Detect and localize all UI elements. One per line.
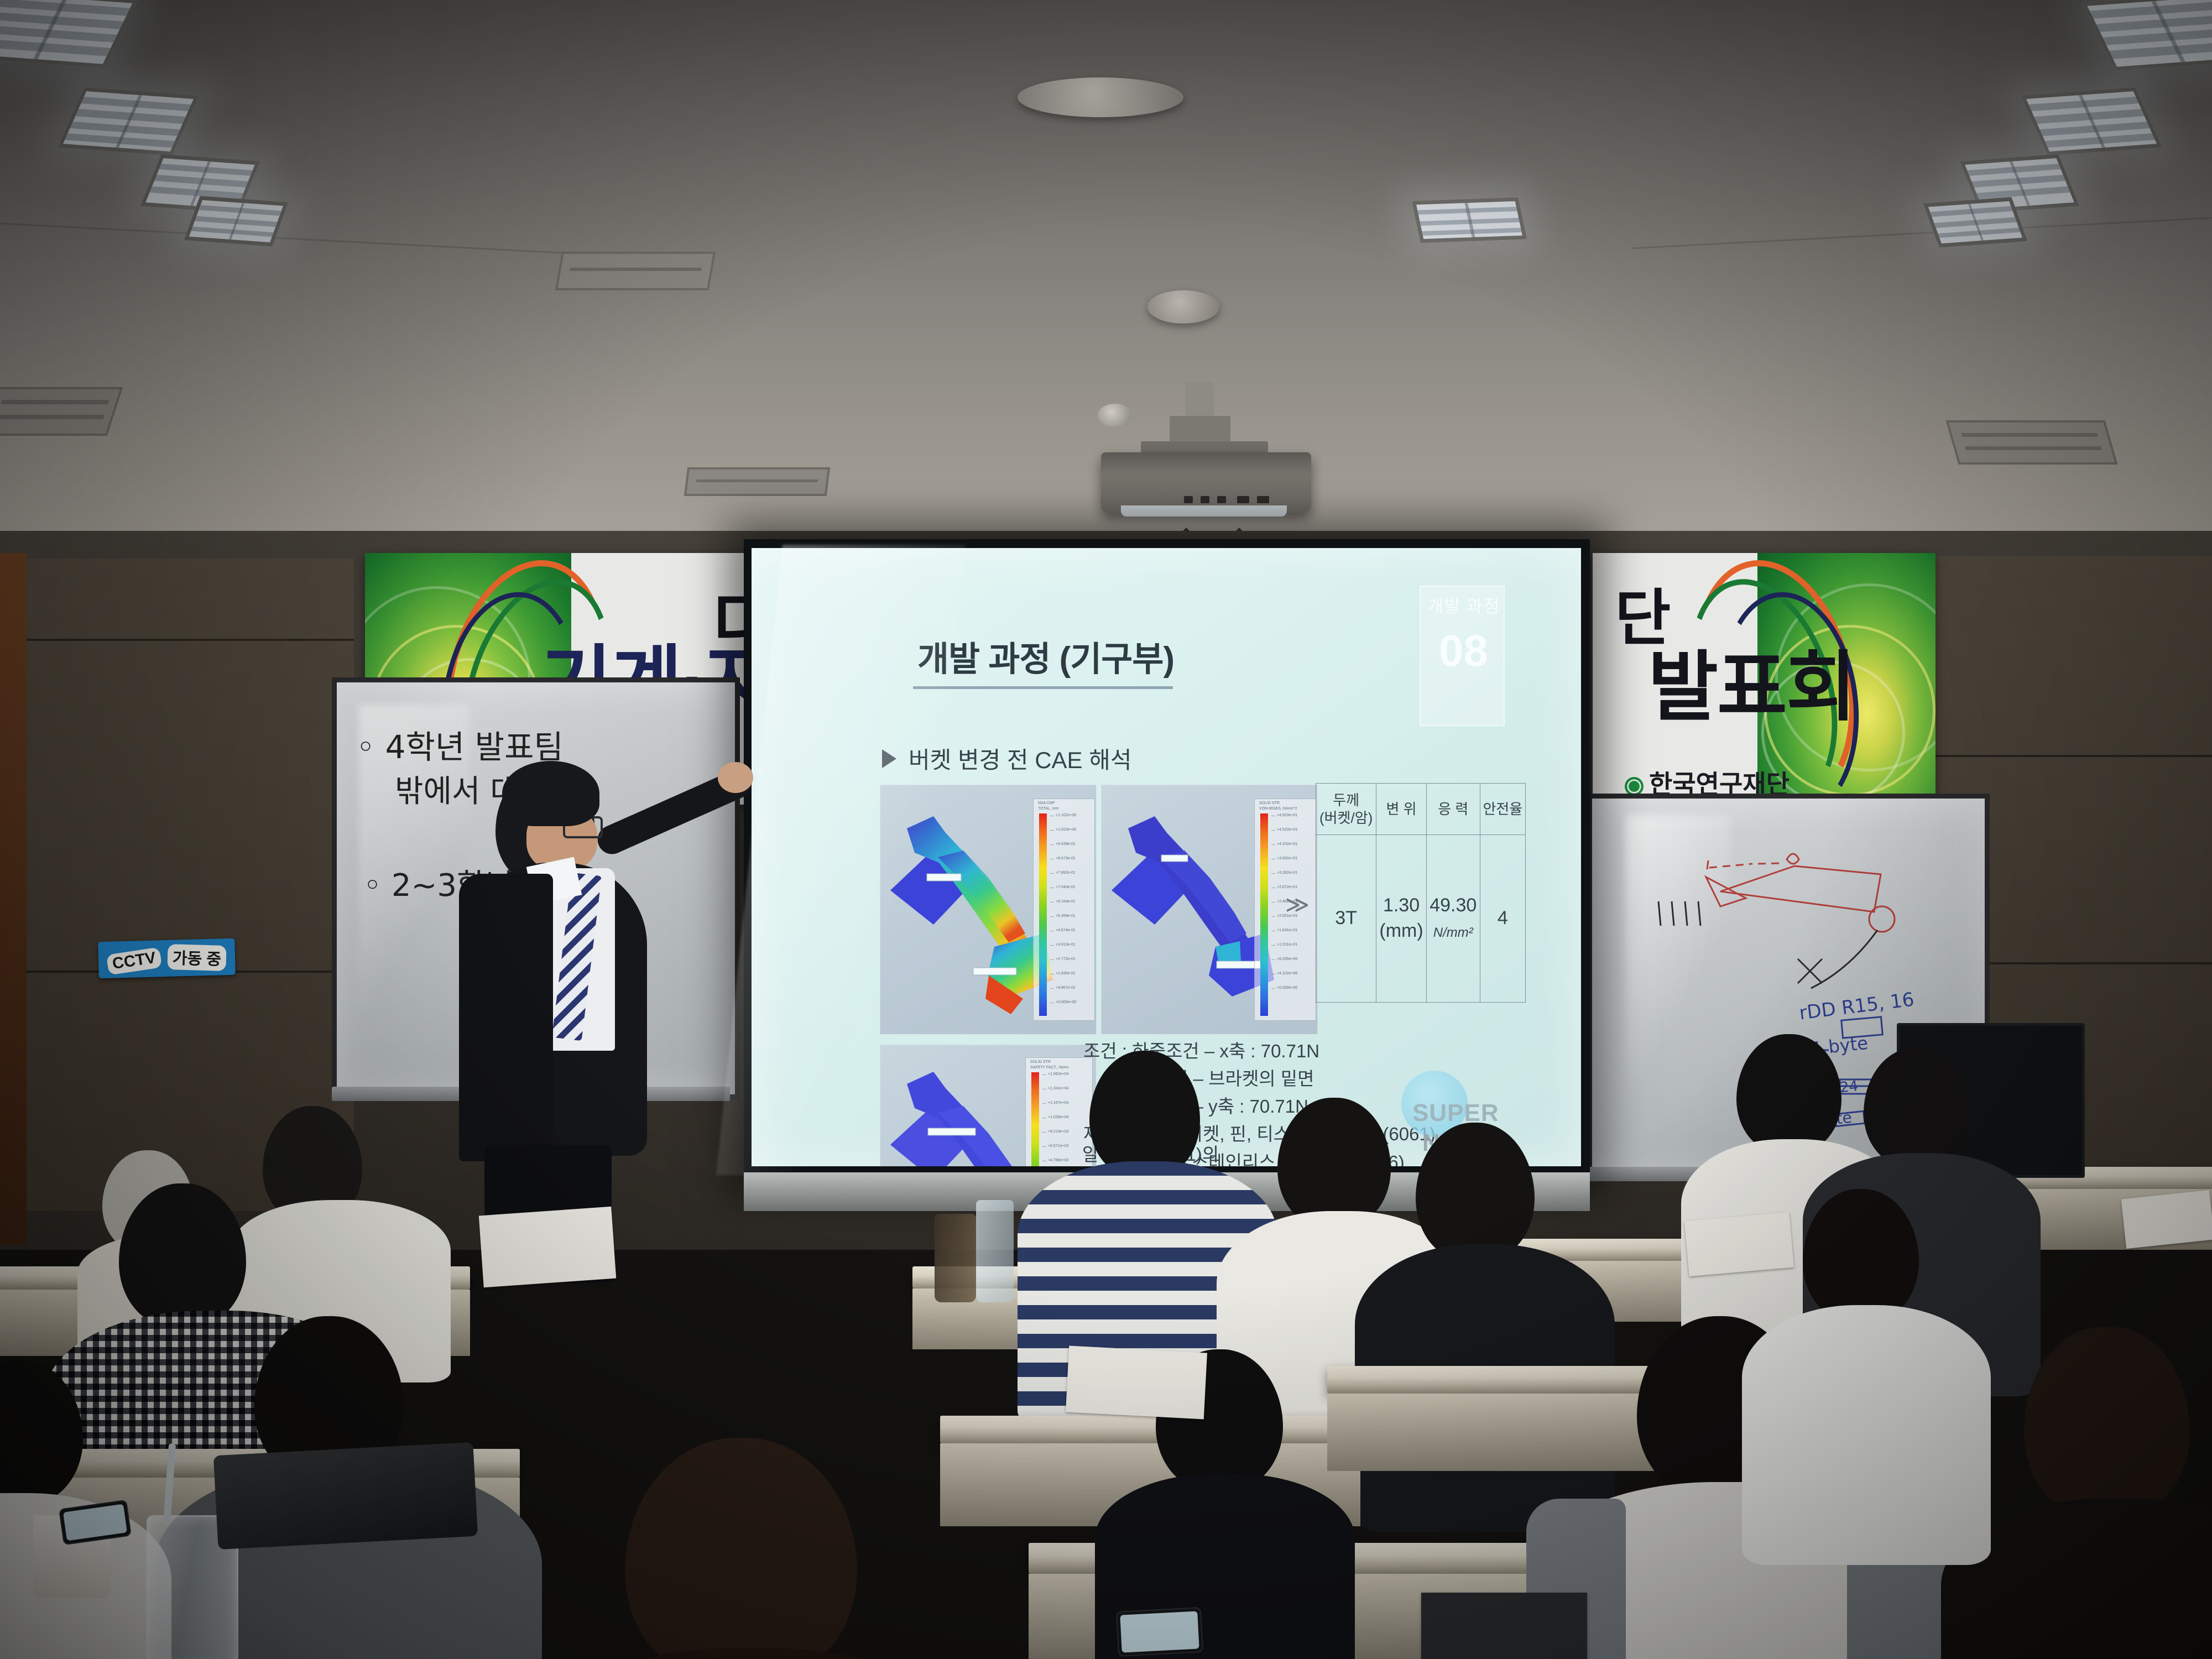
table-header-safety: 안전율 — [1480, 784, 1525, 835]
table-header-thickness: 두께 (버켓/암) — [1316, 784, 1376, 835]
ceiling-speaker — [1147, 290, 1219, 324]
water-bottle — [976, 1200, 1014, 1302]
door-frame — [0, 553, 27, 1244]
ceiling-speaker — [1018, 77, 1183, 117]
cell-stress-value: 49.30 — [1430, 895, 1477, 916]
banner-left-edge-char: 다 — [713, 570, 747, 666]
handout-papers — [479, 1207, 616, 1287]
cctv-sign-line1: CCTV — [106, 947, 162, 975]
banner-right: 단 발표회 한국연구재단 — [1593, 553, 1936, 805]
ceiling-light — [1923, 197, 2028, 247]
cae-legend-title-1: SOLID STR — [1259, 801, 1280, 805]
cctv-sign-line2: 가동 중 — [167, 944, 226, 971]
result-table: 두께 (버켓/암) 변 위 응 력 안전율 3T 1.30 (mm) 49.30 — [1316, 783, 1526, 1003]
table-header-row: 두께 (버켓/암) 변 위 응 력 안전율 — [1316, 784, 1526, 835]
ceiling-vent — [1946, 420, 2118, 465]
whiteboard-left-line1: ◦ 4학년 발표팀 — [356, 721, 564, 768]
cell-stress-unit: N/mm² — [1433, 925, 1473, 940]
ceiling-vent — [684, 467, 830, 496]
handout-papers — [1066, 1346, 1207, 1420]
slide-bullet: 버켓 변경 전 CAE 해석 — [882, 742, 1132, 775]
handout-papers — [1684, 1212, 1794, 1276]
slide-title: 개발 과정 (기구부) — [917, 631, 1174, 681]
smartphone-on-desk — [1116, 1607, 1203, 1657]
table-header-thickness-line2: (버켓/암) — [1319, 810, 1373, 826]
cae-legend-title-2: SAFETY FACT., Norm — [1030, 1066, 1068, 1070]
arrow-marker-icon: ≫ — [1285, 891, 1304, 918]
cae-image-safety-factor: SOLID STR SAFETY FACT., Norm +1.562e+04 … — [880, 1045, 1097, 1166]
drink-bottle — [935, 1214, 976, 1302]
ceiling-vent — [555, 252, 716, 290]
supernova-logo-line1: SUPER — [1412, 1099, 1499, 1127]
table-header-thickness-line1: 두께 — [1333, 792, 1359, 808]
cell-displacement: 1.30 (mm) — [1376, 835, 1427, 1003]
slide-section-label: 개발 과정 — [1427, 592, 1500, 618]
cell-displacement-value: 1.30 — [1383, 895, 1420, 916]
slide-title-underline — [913, 686, 1173, 689]
cctv-sign: CCTV가동 중 — [98, 938, 236, 978]
projector-pole — [1185, 382, 1214, 420]
laptop-bag — [213, 1442, 478, 1550]
table-row: 3T 1.30 (mm) 49.30 N/mm² 4 — [1316, 835, 1526, 1003]
lecture-hall-photo: 기계·자 주최 : 대구대 다 단 발표회 한국연구재단 ◦ 4학년 발표팀 밖… — [0, 0, 2212, 1659]
chevron-right-icon — [882, 749, 896, 768]
cae-legend-title-2: TOTAL, mm — [1038, 807, 1058, 811]
cae-legend-displacement: NSA DSP TOTAL, mm +1.102e+00 +1.023e+00 … — [1033, 799, 1095, 1021]
cell-displacement-unit: (mm) — [1379, 920, 1423, 941]
banner-right-title: 발표회 — [1648, 625, 1855, 735]
notebook-on-desk — [1421, 1593, 1587, 1659]
cae-image-displacement: NSA DSP TOTAL, mm +1.102e+00 +1.023e+00 … — [880, 785, 1097, 1035]
cae-legend-title-1: SOLID STR — [1030, 1060, 1051, 1064]
table-header-displacement: 변 위 — [1376, 784, 1427, 835]
slide-page-number: 08 — [1439, 625, 1488, 676]
ceiling-vent — [0, 387, 123, 436]
table-header-stress: 응 력 — [1426, 784, 1480, 835]
paper-on-counter — [2121, 1190, 2212, 1249]
desk-front-center — [940, 1416, 1360, 1443]
cell-safety-factor: 4 — [1480, 835, 1525, 1003]
projector-body — [1101, 452, 1311, 513]
nrf-emblem-icon — [1625, 777, 1644, 796]
ceiling-projector — [1092, 382, 1324, 536]
cell-stress: 49.30 N/mm² — [1426, 835, 1480, 1003]
slide-bullet-label: 버켓 변경 전 CAE 해석 — [909, 742, 1132, 775]
cell-thickness: 3T — [1316, 835, 1376, 1003]
presenter — [459, 763, 747, 1283]
ceiling-light — [184, 196, 289, 246]
cae-legend-title-2: VON MISES, N/mm^2 — [1259, 807, 1297, 811]
ceiling-light — [1412, 197, 1527, 243]
cae-legend-title-1: NSA DSP — [1038, 801, 1055, 805]
projector-lens — [1121, 505, 1287, 517]
